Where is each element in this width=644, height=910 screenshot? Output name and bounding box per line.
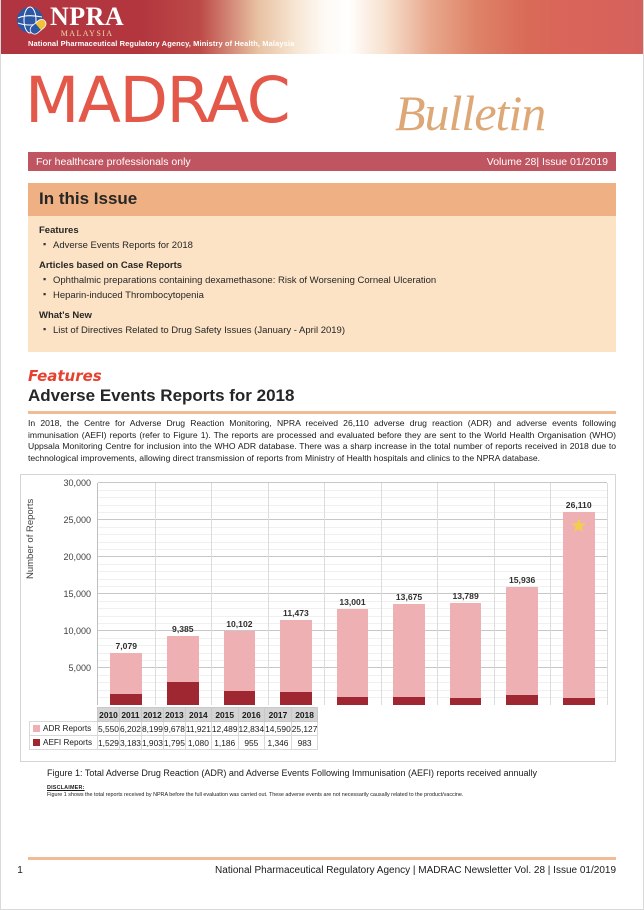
table-column-header: 2017 [265,708,292,722]
bar-segment-adr [110,653,142,694]
table-column-header: 2012 [141,708,163,722]
table-cell: 983 [291,736,318,750]
table-cell: 3,183 [119,736,141,750]
chart-y-tick: 5,000 [29,663,91,673]
chart-bar-2018 [563,512,595,705]
chart-bar-group: 26,110★ [550,483,607,705]
bar-segment-aefi [167,682,199,706]
table-cell: 11,921 [185,722,211,736]
footer-divider [28,857,616,860]
chart-total-label: 15,936 [509,575,535,585]
table-row-label: AEFI Reports [30,736,98,750]
legend-swatch-aefi [33,739,40,746]
bar-segment-aefi [393,697,425,706]
in-this-issue-heading: In this Issue [28,183,616,216]
chart-bar-2013 [280,620,312,705]
bar-segment-adr [450,603,482,698]
table-cell: 1,795 [163,736,185,750]
chart-total-label: 13,001 [339,597,365,607]
toc-item[interactable]: Ophthalmic preparations containing dexam… [39,273,605,288]
bar-segment-adr [506,587,538,695]
chart-bar-group: 11,473 [268,483,325,705]
section-kicker-features: Features [28,367,616,385]
chart-bar-2014 [337,609,369,705]
table-cell: 1,903 [141,736,163,750]
logo-wordmark: NPRA MALAYSIA [50,4,124,38]
article-body-paragraph: In 2018, the Centre for Adverse Drug Rea… [28,418,616,464]
bar-segment-adr [280,620,312,692]
chart-bar-group: 13,789 [437,483,494,705]
strap-issue-text: Volume 28| Issue 01/2019 [487,156,608,168]
chart-bar-2012 [224,631,256,706]
chart-bar-group: 7,079 [98,483,155,705]
chart-bar-2016 [450,603,482,705]
table-cell: 14,590 [265,722,292,736]
table-header-row: 201020112012201320142015201620172018 [30,708,318,722]
chart-total-label: 11,473 [283,608,309,618]
strap-bar: For healthcare professionals only Volume… [28,152,616,171]
toc-section-title-features: Features [39,225,605,236]
chart-total-label: 10,102 [226,619,252,629]
bar-segment-aefi [450,698,482,705]
bar-segment-aefi [280,692,312,705]
table-cell: 955 [238,736,265,750]
masthead-subtitle: National Pharmaceutical Regulatory Agenc… [28,39,294,48]
toc-list-whats-new: List of Directives Related to Drug Safet… [39,323,605,338]
disclaimer-text: Figure 1 shows the total reports receive… [47,792,616,798]
table-cell: 1,080 [185,736,211,750]
toc-item[interactable]: Heparin-induced Thrombocytopenia [39,288,605,303]
footer: 1 National Pharmaceutical Regulatory Age… [9,865,616,876]
in-this-issue-box: In this Issue Features Adverse Events Re… [28,183,616,352]
table-column-header: 2014 [185,708,211,722]
toc-item[interactable]: List of Directives Related to Drug Safet… [39,323,605,338]
divider-peach [28,411,616,414]
chart-inner: Number of Reports 30,00025,00020,00015,0… [21,475,615,761]
chart-y-tick: 10,000 [29,626,91,636]
gold-star-icon: ★ [570,517,587,536]
table-cell: 1,346 [265,736,292,750]
chart-y-axis-label: Number of Reports [25,499,36,579]
bar-segment-aefi [563,698,595,705]
npra-logo: NPRA MALAYSIA [15,4,124,39]
bar-segment-adr [224,631,256,692]
chart-total-label: 26,110 [566,500,592,510]
table-column-header: 2016 [238,708,265,722]
toc-item[interactable]: Adverse Events Reports for 2018 [39,238,605,253]
gridline-vertical [607,483,608,705]
masthead-banner: NPRA MALAYSIA National Pharmaceutical Re… [1,0,643,54]
chart-bar-2015 [393,604,425,705]
chart-bar-group: 10,102 [211,483,268,705]
table-cell: 12,489 [211,722,238,736]
table-column-header: 2011 [119,708,141,722]
chart-data-table: 201020112012201320142015201620172018ADR … [29,707,318,750]
chart-total-label: 13,789 [452,591,478,601]
table-column-header: 2013 [163,708,185,722]
footer-text: National Pharmaceutical Regulatory Agenc… [31,865,616,876]
table-cell: 8,199 [141,722,163,736]
chart-bar-2017 [506,587,538,705]
table-column-header: 2018 [291,708,318,722]
chart-total-label: 7,079 [116,641,138,651]
bulletin-script: Bulletin [395,84,545,142]
table-row-label: ADR Reports [30,722,98,736]
in-this-issue-content: Features Adverse Events Reports for 2018… [28,216,616,352]
chart-total-label: 9,385 [172,624,194,634]
chart-plot-area: 7,0799,38510,10211,47313,00113,67513,789… [97,483,607,705]
figure-caption: Figure 1: Total Adverse Drug Reaction (A… [47,768,616,778]
table-cell: 6,202 [119,722,141,736]
table-column-header: 2015 [211,708,238,722]
chart-bar-group: 13,675 [381,483,438,705]
globe-capsule-icon [15,5,49,39]
table-cell: 12,834 [238,722,265,736]
chart-bars: 7,0799,38510,10211,47313,00113,67513,789… [98,483,607,705]
chart-bar-group: 15,936 [494,483,551,705]
page-number: 1 [9,865,31,876]
logo-npra-text: NPRA [50,4,124,30]
chart-y-tick: 25,000 [29,515,91,525]
publication-title: MADRAC Bulletin [1,54,643,152]
table-cell: 1,186 [211,736,238,750]
article-title: Adverse Events Reports for 2018 [28,386,616,406]
strap-left-text: For healthcare professionals only [36,156,191,168]
table-column-header: 2010 [98,708,120,722]
bar-segment-adr [393,604,425,696]
chart-y-tick: 20,000 [29,552,91,562]
toc-list-case-reports: Ophthalmic preparations containing dexam… [39,273,605,303]
bar-segment-aefi [224,691,256,705]
bar-segment-adr [563,512,595,698]
chart-bar-2011 [167,636,199,705]
chart-y-tick: 15,000 [29,589,91,599]
chart-bar-2010 [110,653,142,705]
chart-bar-group: 13,001 [324,483,381,705]
bar-segment-adr [337,609,369,697]
bar-segment-aefi [337,697,369,705]
bar-segment-adr [167,636,199,682]
table-cell: 1,529 [98,736,120,750]
toc-section-title-case-reports: Articles based on Case Reports [39,260,605,271]
table-cell: 5,550 [98,722,120,736]
table-cell: 25,127 [291,722,318,736]
madrac-wordmark: MADRAC [25,66,289,136]
figure-1-chart: Number of Reports 30,00025,00020,00015,0… [20,474,616,762]
logo-malaysia-text: MALAYSIA [50,29,124,38]
table-row-aefi: AEFI Reports1,5293,1831,9031,7951,0801,1… [30,736,318,750]
chart-y-tick: 30,000 [29,478,91,488]
chart-total-label: 13,675 [396,592,422,602]
bar-segment-aefi [506,695,538,705]
bar-segment-aefi [110,694,142,705]
disclaimer-title: DISCLAIMER: [47,785,616,791]
chart-bar-group: 9,385 [155,483,212,705]
newsletter-page: NPRA MALAYSIA National Pharmaceutical Re… [0,0,644,910]
toc-section-title-whats-new: What's New [39,310,605,321]
table-row-adr: ADR Reports5,5506,2028,1999,67811,92112,… [30,722,318,736]
toc-list-features: Adverse Events Reports for 2018 [39,238,605,253]
table-cell: 9,678 [163,722,185,736]
legend-swatch-adr [33,725,40,732]
table-corner [30,708,98,722]
